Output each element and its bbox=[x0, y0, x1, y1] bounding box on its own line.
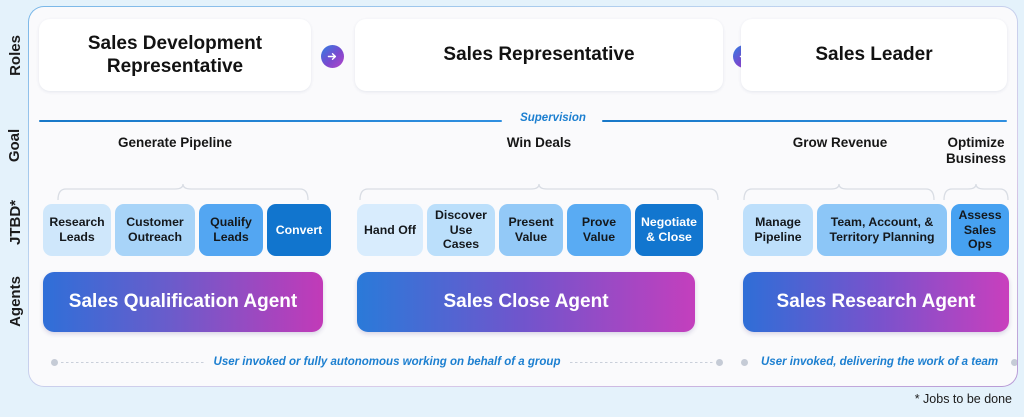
jtbd-chip-research-leads[interactable]: Research Leads bbox=[43, 204, 111, 256]
jtbd-chip-label: Convert bbox=[276, 223, 322, 238]
jtbd-row: Research Leads Customer Outreach Qualify… bbox=[29, 204, 1017, 260]
endpoint-dot-icon bbox=[1011, 359, 1018, 366]
dotted-connector bbox=[570, 362, 713, 363]
footer-note-label: User invoked, delivering the work of a t… bbox=[754, 356, 1005, 368]
jtbd-chip-team-account-territory-planning[interactable]: Team, Account, & Territory Planning bbox=[817, 204, 947, 256]
jtbd-chip-label: Team, Account, & Territory Planning bbox=[823, 215, 941, 245]
diagram-card: Sales Development Representative Sales R… bbox=[28, 6, 1018, 387]
jtbd-chip-convert[interactable]: Convert bbox=[267, 204, 331, 256]
agent-label: Sales Close Agent bbox=[443, 291, 608, 313]
row-label-jtbd: JTBD* bbox=[0, 186, 30, 258]
jtbd-chip-present-value[interactable]: Present Value bbox=[499, 204, 563, 256]
goal-optimize-business: Optimize Business bbox=[941, 135, 1011, 167]
jtbd-chip-label: Present Value bbox=[505, 215, 557, 245]
row-label-column: Roles Goal JTBD* Agents bbox=[0, 0, 30, 380]
role-label: Sales Development Representative bbox=[39, 32, 311, 78]
jtbd-chip-negotiate-close[interactable]: Negotiate & Close bbox=[635, 204, 703, 256]
jtbd-chip-label: Assess Sales Ops bbox=[957, 208, 1003, 252]
brace-optimize-business bbox=[943, 183, 1009, 201]
brace-grow-revenue bbox=[743, 183, 935, 201]
roles-row: Sales Development Representative Sales R… bbox=[29, 7, 1017, 105]
supervision-line-right bbox=[602, 120, 1007, 122]
jtbd-chip-label: Hand Off bbox=[364, 223, 416, 238]
brace-win-deals bbox=[359, 183, 719, 201]
jtbd-chip-discover-use-cases[interactable]: Discover Use Cases bbox=[427, 204, 495, 256]
jtbd-chip-manage-pipeline[interactable]: Manage Pipeline bbox=[743, 204, 813, 256]
jtbd-chip-label: Customer Outreach bbox=[121, 215, 189, 245]
supervision-line: Supervision bbox=[39, 114, 1007, 128]
row-label-roles-text: Roles bbox=[7, 35, 24, 76]
jtbd-chip-label: Prove Value bbox=[573, 215, 625, 245]
supervision-label: Supervision bbox=[505, 112, 601, 124]
supervision-line-left bbox=[39, 120, 502, 122]
dotted-connector bbox=[61, 362, 204, 363]
jtbd-chip-label: Negotiate & Close bbox=[641, 215, 697, 245]
footer-note-team: User invoked, delivering the work of a t… bbox=[741, 354, 1009, 370]
row-label-roles: Roles bbox=[0, 12, 30, 98]
row-label-agents-text: Agents bbox=[7, 276, 24, 327]
jtbd-chip-label: Discover Use Cases bbox=[433, 208, 489, 252]
jtbd-chip-label: Research Leads bbox=[49, 215, 105, 245]
role-card-sales-representative[interactable]: Sales Representative bbox=[355, 19, 723, 91]
agent-label: Sales Research Agent bbox=[777, 291, 976, 313]
row-label-goal: Goal bbox=[0, 110, 30, 180]
goal-generate-pipeline: Generate Pipeline bbox=[39, 135, 311, 151]
diagram-canvas: Roles Goal JTBD* Agents Sales Developmen… bbox=[0, 0, 1024, 417]
jtbd-chip-customer-outreach[interactable]: Customer Outreach bbox=[115, 204, 195, 256]
jtbd-chip-assess-sales-ops[interactable]: Assess Sales Ops bbox=[951, 204, 1009, 256]
agent-card-sales-close-agent[interactable]: Sales Close Agent bbox=[357, 272, 695, 332]
row-label-goal-text: Goal bbox=[7, 128, 24, 161]
goal-grow-revenue: Grow Revenue bbox=[741, 135, 939, 151]
endpoint-dot-icon bbox=[716, 359, 723, 366]
role-card-sales-development-representative[interactable]: Sales Development Representative bbox=[39, 19, 311, 91]
arrow-right-icon bbox=[321, 45, 344, 68]
jtbd-footnote: * Jobs to be done bbox=[915, 392, 1012, 406]
brace-generate-pipeline bbox=[57, 183, 309, 201]
role-label: Sales Representative bbox=[433, 43, 644, 66]
footer-note-group: User invoked or fully autonomous working… bbox=[51, 354, 723, 370]
row-label-agents: Agents bbox=[0, 262, 30, 340]
jtbd-chip-prove-value[interactable]: Prove Value bbox=[567, 204, 631, 256]
jtbd-chip-label: Manage Pipeline bbox=[749, 215, 807, 245]
endpoint-dot-icon bbox=[51, 359, 58, 366]
goal-row: Generate Pipeline Win Deals Grow Revenue… bbox=[29, 135, 1017, 173]
agents-row: Sales Qualification Agent Sales Close Ag… bbox=[29, 272, 1017, 338]
row-label-jtbd-text: JTBD* bbox=[7, 199, 24, 244]
agent-label: Sales Qualification Agent bbox=[69, 291, 297, 313]
jtbd-chip-label: Qualify Leads bbox=[205, 215, 257, 245]
role-label: Sales Leader bbox=[805, 43, 942, 66]
endpoint-dot-icon bbox=[741, 359, 748, 366]
agent-card-sales-qualification-agent[interactable]: Sales Qualification Agent bbox=[43, 272, 323, 332]
jtbd-chip-qualify-leads[interactable]: Qualify Leads bbox=[199, 204, 263, 256]
jtbd-chip-hand-off[interactable]: Hand Off bbox=[357, 204, 423, 256]
role-card-sales-leader[interactable]: Sales Leader bbox=[741, 19, 1007, 91]
footer-note-label: User invoked or fully autonomous working… bbox=[207, 356, 568, 368]
goal-win-deals: Win Deals bbox=[355, 135, 723, 151]
agent-card-sales-research-agent[interactable]: Sales Research Agent bbox=[743, 272, 1009, 332]
